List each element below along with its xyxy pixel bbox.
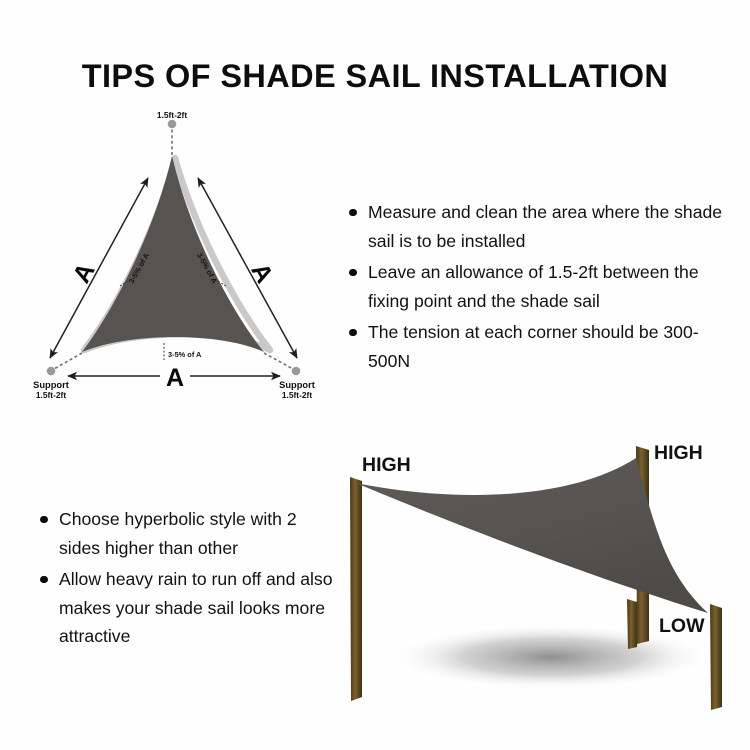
support-point-bottom-left (47, 367, 56, 376)
page-title: TIPS OF SHADE SAIL INSTALLATION (0, 58, 750, 95)
support-sublabel-bottom-left: 1.5ft-2ft (36, 390, 66, 400)
tip-text: The tension at each corner should be 300… (368, 322, 699, 371)
list-item: Measure and clean the area where the sha… (349, 198, 734, 255)
tip-text: Measure and clean the area where the sha… (368, 202, 722, 251)
hyperbolic-sail-body (356, 458, 708, 613)
bullet-dot-icon (349, 269, 357, 277)
pole-middle-back (627, 599, 637, 649)
support-connector-bottom-right (264, 353, 293, 369)
hyperbolic-shade-sail-diagram: HIGH HIGH LOW (336, 425, 750, 725)
support-sublabel-top: 1.5ft-2ft (157, 110, 187, 120)
side-length-label-right: A (245, 258, 278, 287)
tips-list-hyperbolic: Choose hyperbolic style with 2 sides hig… (40, 505, 340, 654)
corner-label-left-high: HIGH (362, 454, 411, 476)
pole-right-low (710, 604, 722, 710)
list-item: Allow heavy rain to run off and also mak… (40, 565, 340, 651)
corner-label-right-high: HIGH (654, 442, 703, 464)
list-item: The tension at each corner should be 300… (349, 318, 734, 375)
bullet-dot-icon (40, 576, 48, 584)
infographic-page: TIPS OF SHADE SAIL INSTALLATION (0, 0, 750, 750)
side-length-label-bottom: A (166, 364, 184, 392)
side-length-label-left: A (67, 258, 100, 287)
bullet-dot-icon (349, 209, 357, 217)
support-connector-bottom-left (54, 353, 82, 369)
corner-label-low: LOW (659, 615, 705, 637)
bullet-dot-icon (349, 329, 357, 337)
support-sublabel-bottom-right: 1.5ft-2ft (282, 390, 312, 400)
sag-label-bottom: 3-5% of A (168, 350, 202, 359)
tip-text: Choose hyperbolic style with 2 sides hig… (59, 509, 297, 558)
list-item: Leave an allowance of 1.5-2ft between th… (349, 258, 734, 315)
tips-list-installation: Measure and clean the area where the sha… (349, 198, 734, 378)
list-item: Choose hyperbolic style with 2 sides hig… (40, 505, 340, 562)
bullet-dot-icon (40, 516, 48, 524)
tip-text: Leave an allowance of 1.5-2ft between th… (368, 262, 699, 311)
triangle-shade-sail-diagram: Support 1.5ft-2ft Support 1.5ft-2ft Supp… (12, 110, 362, 415)
pole-left-high (350, 477, 362, 701)
tip-text: Allow heavy rain to run off and also mak… (59, 569, 333, 646)
support-point-top (168, 120, 177, 129)
support-label-bottom-left: Support (33, 380, 69, 390)
support-point-bottom-right (292, 367, 301, 376)
triangle-sail-body (82, 156, 264, 352)
support-label-bottom-right: Support (279, 380, 315, 390)
